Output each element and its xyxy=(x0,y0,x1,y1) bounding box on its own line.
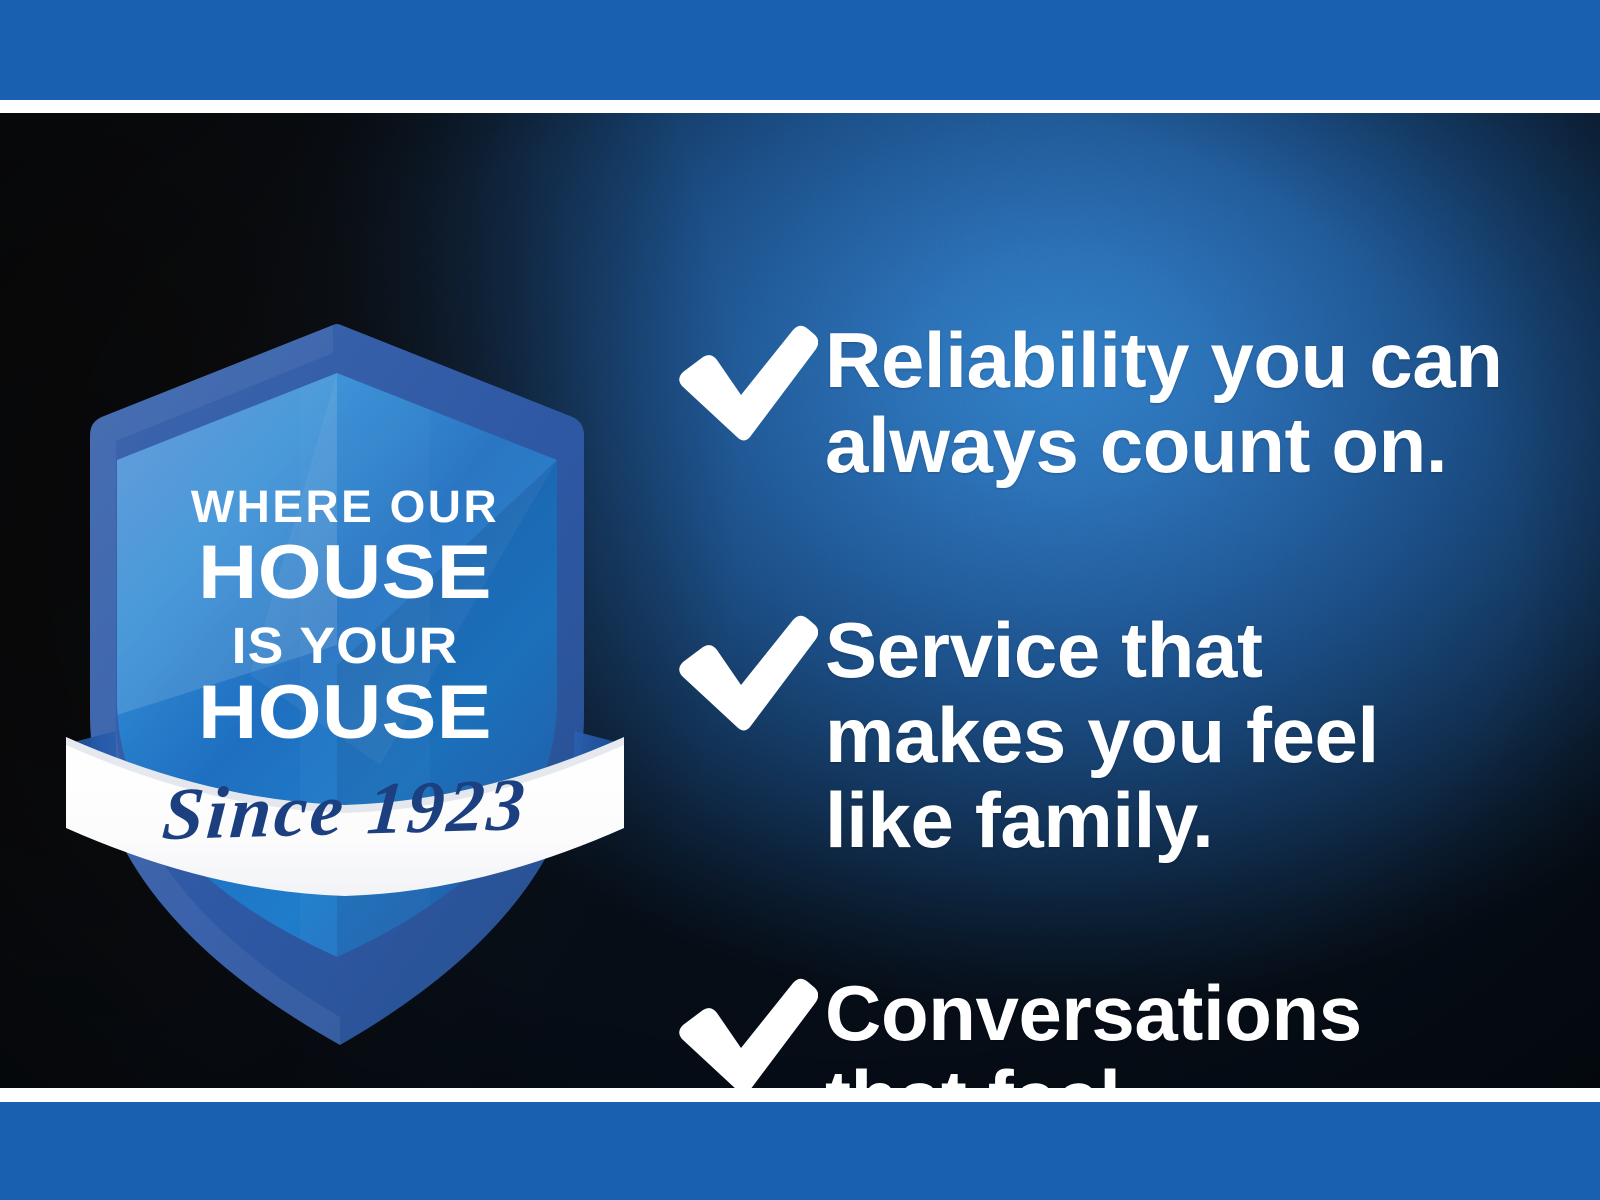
benefit-item: Conversations that feel like home. xyxy=(670,971,1530,1088)
benefits-list: Reliability you can always count on. Ser… xyxy=(670,318,1530,1088)
checkmark-glyph xyxy=(670,977,818,1088)
benefit-text: Service that makes you feel like family. xyxy=(825,608,1530,863)
shield-line-house-bottom: House xyxy=(26,675,663,751)
checkmark-glyph xyxy=(670,614,818,732)
bottom-accent-bar xyxy=(0,1102,1600,1200)
checkmark-glyph xyxy=(670,324,818,442)
benefit-item: Service that makes you feel like family. xyxy=(670,608,1530,863)
shield-line-where-our: Where Our xyxy=(44,484,646,529)
benefit-item: Reliability you can always count on. xyxy=(670,318,1530,488)
shield-line-house-top: House xyxy=(26,535,663,611)
company-shield-emblem: Where Our House Is Your House Since 1923 xyxy=(50,245,640,1075)
checkmark-icon xyxy=(670,318,825,442)
checkmark-icon xyxy=(670,971,825,1088)
benefit-text: Reliability you can always count on. xyxy=(825,318,1530,488)
benefit-text: Conversations that feel like home. xyxy=(825,971,1530,1088)
top-accent-bar xyxy=(0,0,1600,100)
promo-graphic: Where Our House Is Your House Since 1923… xyxy=(0,0,1600,1200)
main-panel: Where Our House Is Your House Since 1923… xyxy=(0,113,1600,1088)
checkmark-icon xyxy=(670,608,825,732)
shield-line-is-your: Is Your xyxy=(35,620,655,671)
